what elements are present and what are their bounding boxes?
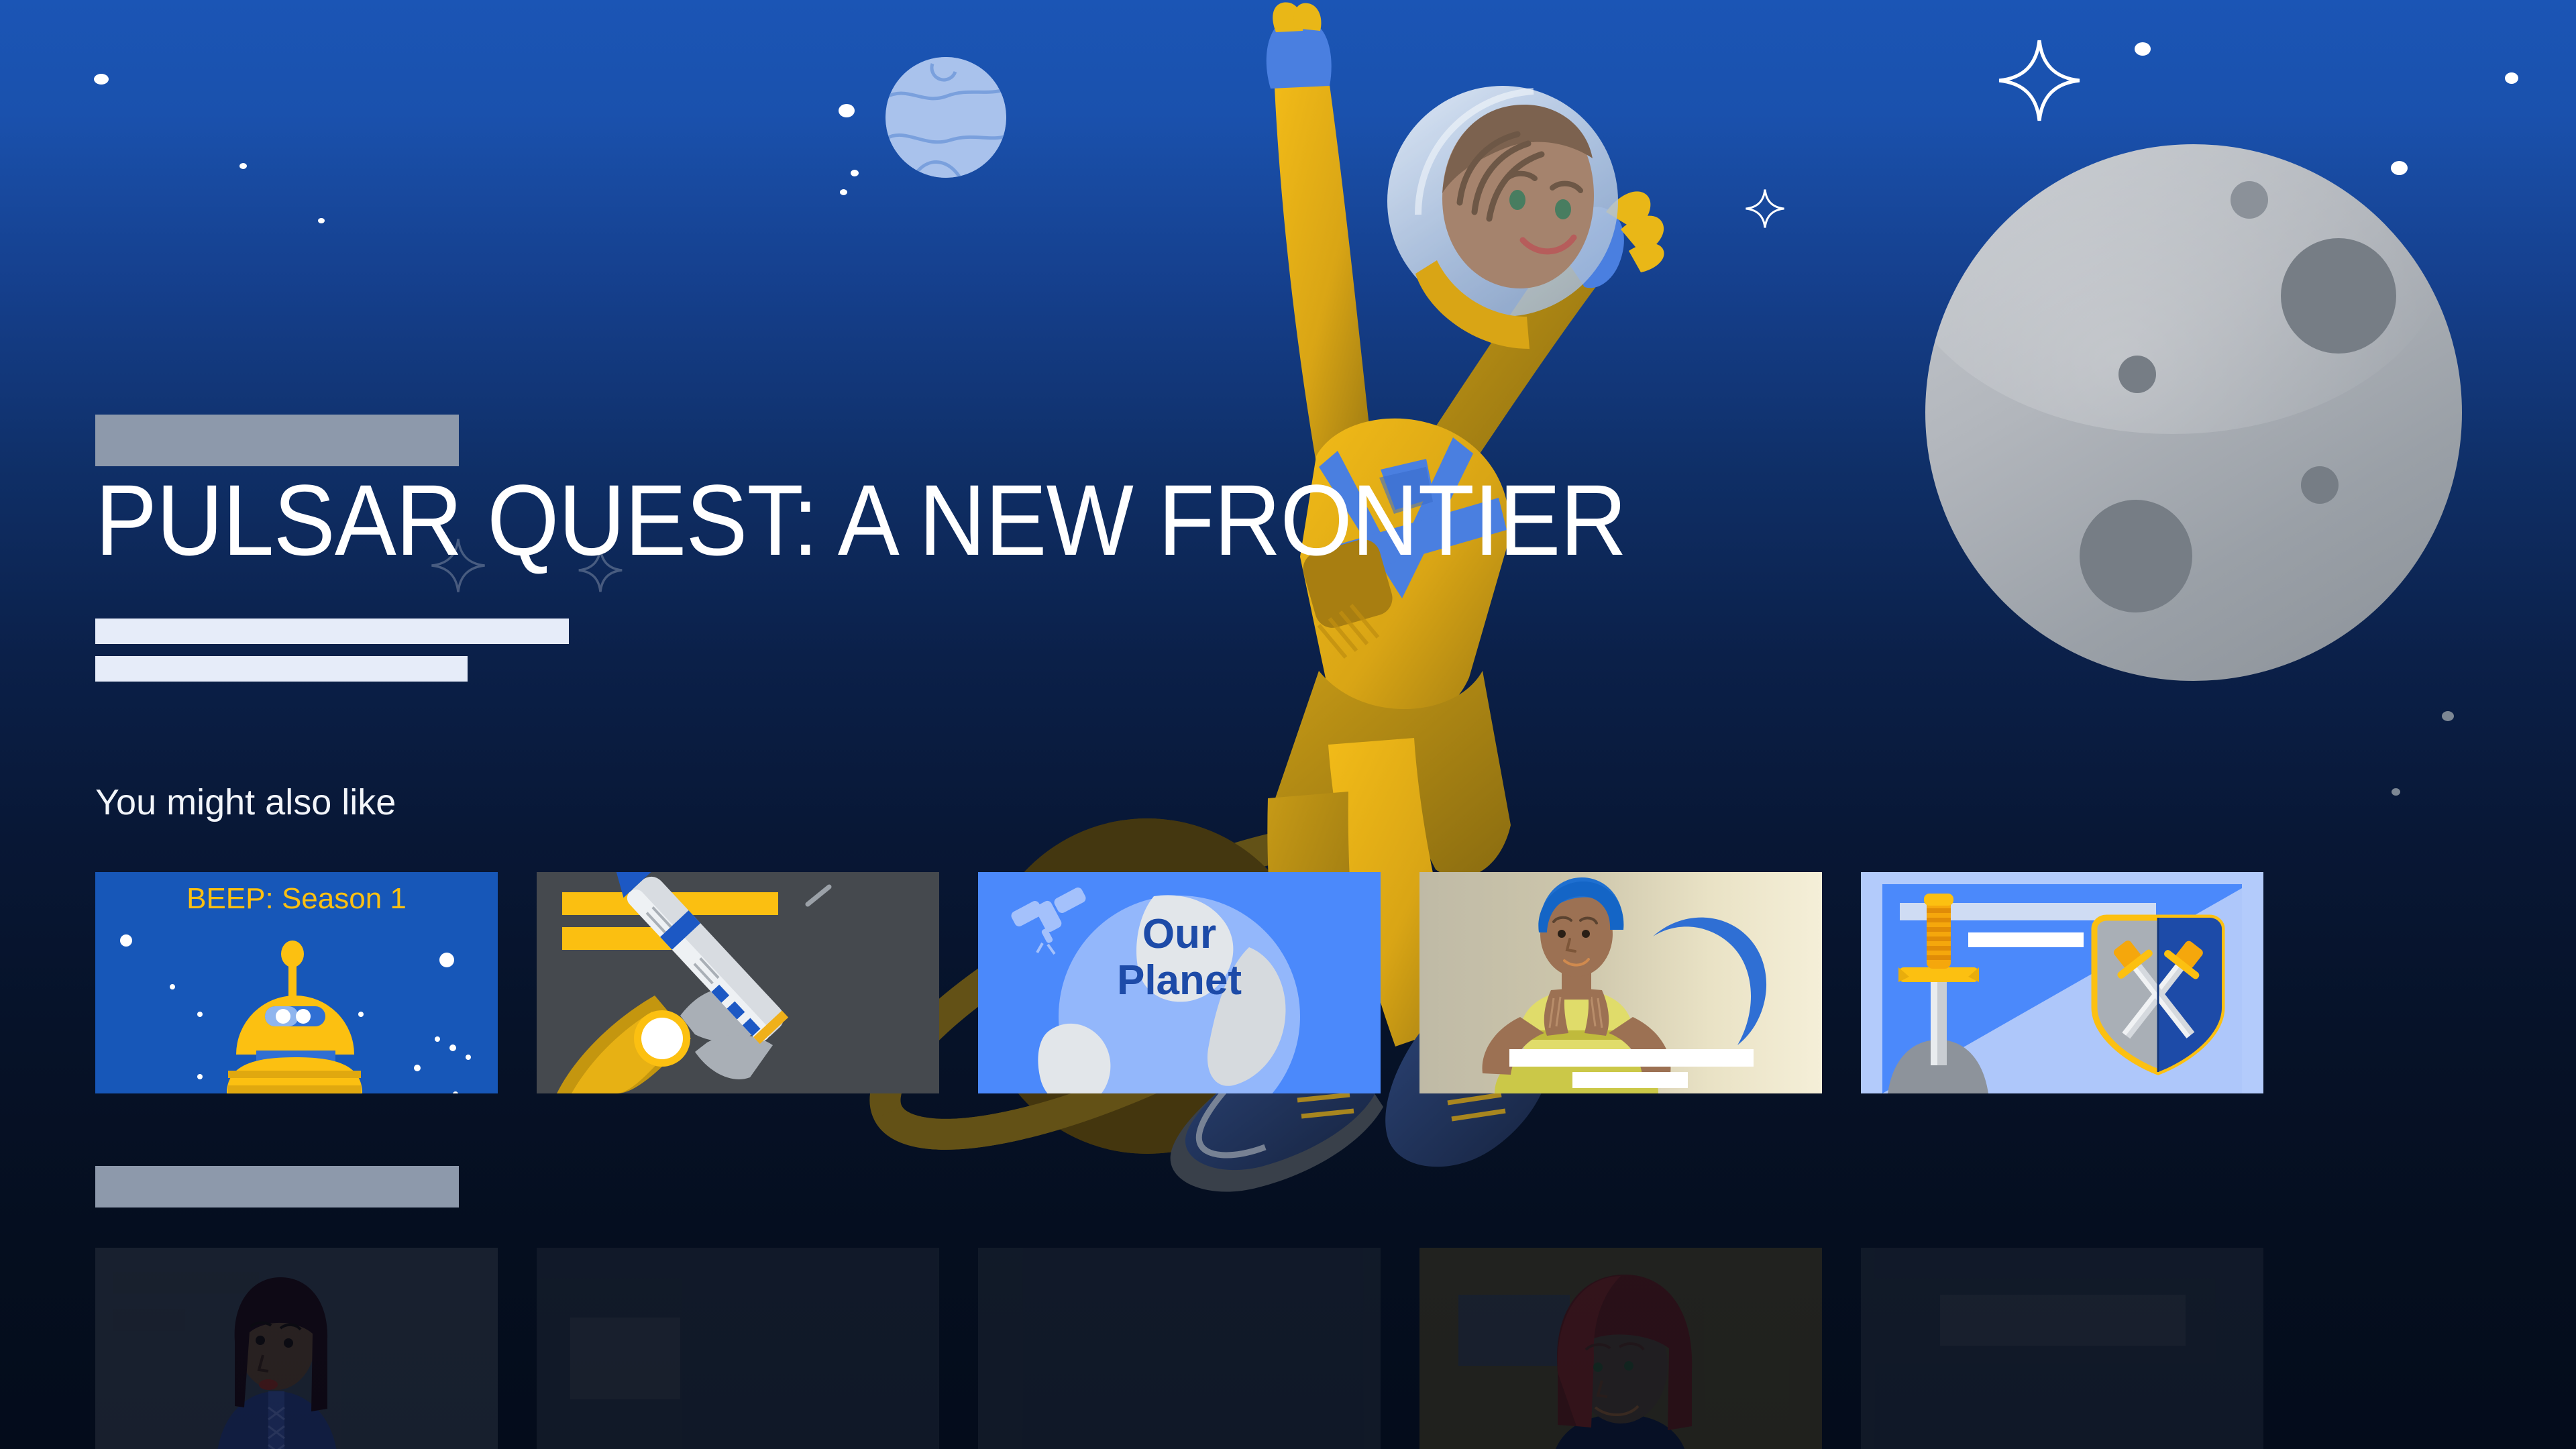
card-placeholder-bar-1 [1509,1049,1754,1067]
section-label-recommendations: You might also like [95,782,396,823]
hero-eyebrow-placeholder [95,415,459,466]
card-placeholder-bar-1 [1940,1295,2186,1346]
page-title: PULSAR QUEST: A NEW FRONTIER [95,470,1626,570]
card-portrait-red-hair[interactable] [1419,1248,1822,1449]
card-meditation[interactable] [1419,872,1822,1093]
second-recommendations-row[interactable] [95,1248,2263,1449]
card-our-planet[interactable]: OurPlanet [978,872,1381,1093]
card-placeholder-2[interactable] [537,1248,939,1449]
card-placeholder-3[interactable] [978,1248,1381,1449]
screen: PULSAR QUEST: A NEW FRONTIER You might a… [0,0,2576,1449]
card-sword-and-shield[interactable] [1861,872,2263,1093]
section-label-placeholder-row2 [95,1166,459,1207]
card-placeholder-bar-1 [570,1318,680,1399]
card-rocket-launch[interactable] [537,872,939,1093]
hero-meta-placeholder-2 [95,656,468,682]
hero-meta-placeholder-1 [95,619,569,644]
card-beep-season-1[interactable]: BEEP: Season 1 [95,872,498,1093]
card-title-our-planet: OurPlanet [978,911,1381,1004]
page-content: PULSAR QUEST: A NEW FRONTIER You might a… [0,0,2576,1449]
recommendations-row[interactable]: BEEP: Season 1 [95,872,2263,1093]
card-placeholder-bar-2 [1572,1072,1688,1088]
card-placeholder-5[interactable] [1861,1248,2263,1449]
card-portrait-dark-hair[interactable] [95,1248,498,1449]
